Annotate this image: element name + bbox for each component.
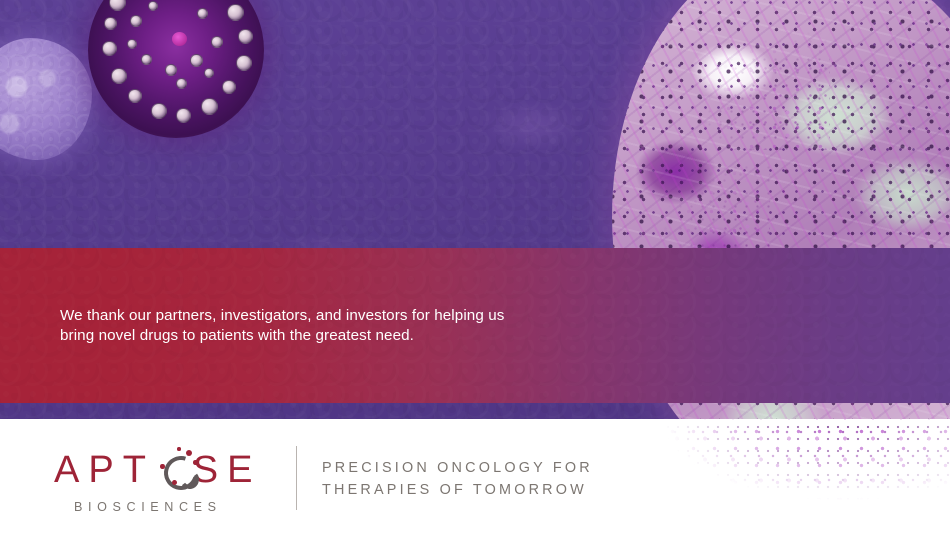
vesicle (111, 68, 127, 84)
vesicle (151, 103, 167, 119)
vesicle (127, 39, 137, 49)
vesicle (102, 41, 117, 56)
logo-dot-icon (193, 460, 198, 465)
vesicle (148, 1, 158, 11)
thank-you-line-2: bring novel drugs to patients with the g… (60, 326, 560, 346)
vesicle (104, 17, 117, 30)
vesicle (201, 98, 218, 115)
vesicle (130, 15, 142, 27)
vesicle (211, 36, 223, 48)
closing-slide: We thank our partners, investigators, an… (0, 0, 950, 534)
vesicle (236, 55, 252, 71)
vesicle (109, 0, 126, 11)
vesicle (197, 8, 208, 19)
vesicle (165, 64, 177, 76)
logo-dot-icon (172, 480, 177, 485)
footer-divider (296, 446, 297, 510)
logo-dot-icon (186, 450, 192, 456)
company-tagline: PRECISION ONCOLOGY FOR THERAPIES OF TOMO… (322, 457, 593, 501)
vesicle (176, 78, 187, 89)
vesicle-cell-core (172, 32, 187, 46)
thank-you-line-1: We thank our partners, investigators, an… (60, 306, 560, 326)
vesicle (190, 54, 203, 67)
aptose-wordmark-suffix: SE (193, 449, 262, 491)
tagline-line-2: THERAPIES OF TOMORROW (322, 479, 593, 501)
logo-dot-icon (160, 464, 165, 469)
aptose-wordmark-prefix: APT (54, 449, 154, 491)
aptose-logo-subtitle: BIOSCIENCES (74, 500, 276, 514)
vesicle (128, 89, 142, 103)
vesicle (141, 54, 152, 65)
vesicle (238, 29, 253, 44)
thank-you-message: We thank our partners, investigators, an… (60, 306, 560, 346)
aptose-wordmark: APTOSE (52, 449, 276, 491)
logo-dot-icon (177, 447, 181, 451)
vesicle (204, 68, 214, 78)
vesicle (227, 4, 244, 21)
vesicle (222, 80, 236, 94)
tagline-line-1: PRECISION ONCOLOGY FOR (322, 457, 593, 479)
aptose-o-mark-icon (160, 450, 197, 487)
vesicle (176, 108, 191, 123)
aptose-logo[interactable]: APTOSE BIOSCIENCES (52, 449, 276, 514)
